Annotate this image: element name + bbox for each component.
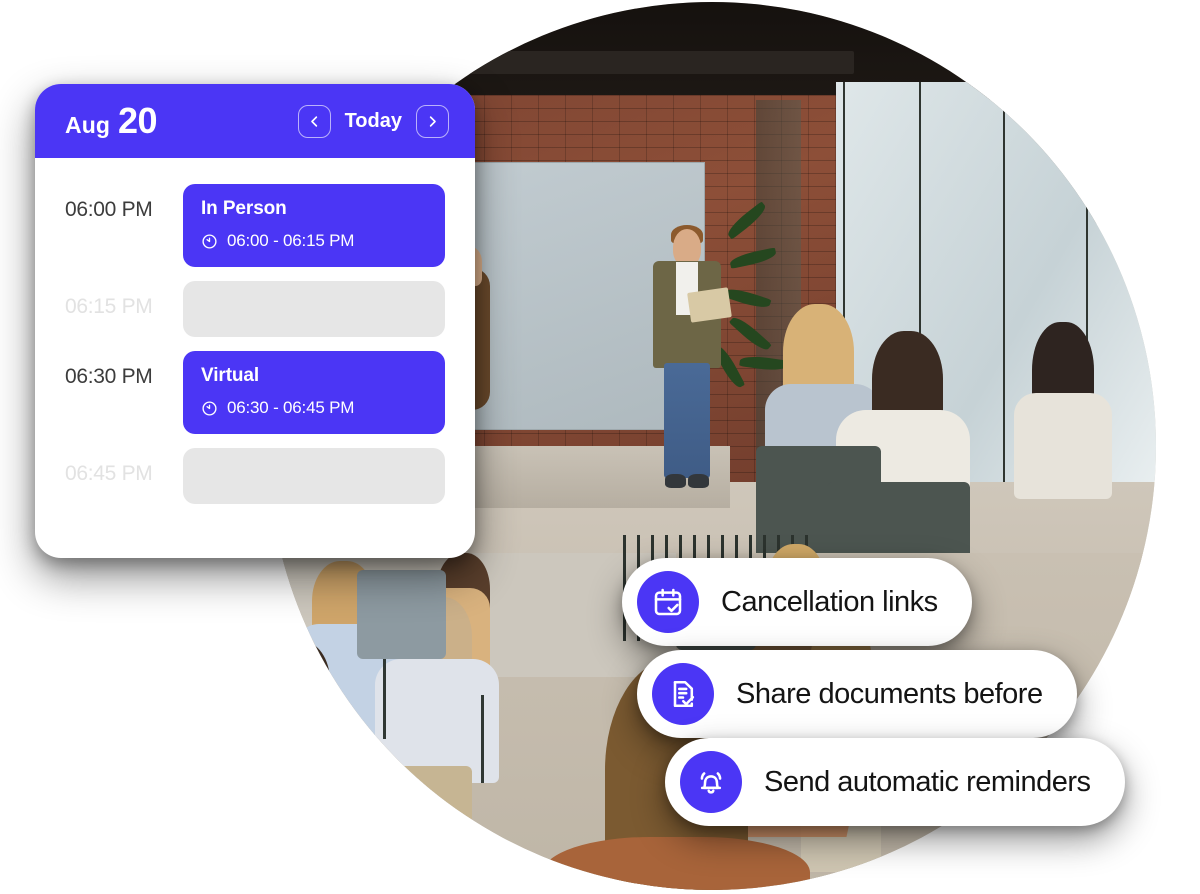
feature-label: Share documents before bbox=[736, 678, 1043, 711]
hero-composition: Aug 20 Today bbox=[0, 0, 1200, 894]
event-title: Virtual bbox=[201, 365, 429, 387]
time-slot-row: 06:30 PM Virtual 06:30 - 06:45 PM bbox=[65, 351, 445, 434]
presenter-jeans bbox=[664, 363, 710, 478]
event-title: In Person bbox=[201, 198, 429, 220]
clock-icon bbox=[201, 400, 218, 417]
time-slot-row: 06:15 PM bbox=[65, 281, 445, 337]
chevron-left-icon bbox=[307, 114, 322, 129]
presenter-shoe bbox=[688, 474, 709, 487]
calendar-day: 20 bbox=[118, 100, 157, 142]
event-time-range: 06:30 - 06:45 PM bbox=[227, 398, 354, 418]
slot-time-label: 06:30 PM bbox=[65, 351, 183, 389]
presenter-clipboard bbox=[687, 287, 732, 323]
feature-pill-cancellation-links[interactable]: Cancellation links bbox=[622, 558, 972, 646]
calendar-date: Aug 20 bbox=[65, 100, 157, 142]
event-time-meta: 06:30 - 06:45 PM bbox=[201, 398, 429, 418]
slot-time-label: 06:45 PM bbox=[65, 448, 183, 486]
empty-slot[interactable] bbox=[183, 448, 445, 504]
feature-pill-share-documents[interactable]: Share documents before bbox=[637, 650, 1077, 738]
today-label[interactable]: Today bbox=[345, 110, 402, 133]
attendee-torso bbox=[1014, 393, 1112, 500]
slot-time-label: 06:15 PM bbox=[65, 281, 183, 319]
time-slot-row: 06:00 PM In Person 06:00 - 06:15 PM bbox=[65, 184, 445, 267]
next-day-button[interactable] bbox=[416, 105, 449, 138]
calendar-header: Aug 20 Today bbox=[35, 84, 475, 158]
event-card-virtual[interactable]: Virtual 06:30 - 06:45 PM bbox=[183, 351, 445, 434]
presenter-shoe bbox=[665, 474, 686, 487]
feature-label: Cancellation links bbox=[721, 586, 938, 619]
clock-icon bbox=[201, 233, 218, 250]
calendar-navigation: Today bbox=[298, 105, 449, 138]
ceiling-beam bbox=[463, 51, 854, 74]
foreground-person-shoulders bbox=[543, 837, 809, 890]
event-card-in-person[interactable]: In Person 06:00 - 06:15 PM bbox=[183, 184, 445, 267]
feature-label: Send automatic reminders bbox=[764, 766, 1091, 799]
attendee-legs bbox=[383, 766, 472, 855]
chevron-right-icon bbox=[425, 114, 440, 129]
calendar-widget: Aug 20 Today bbox=[35, 84, 475, 558]
event-time-range: 06:00 - 06:15 PM bbox=[227, 231, 354, 251]
slot-time-label: 06:00 PM bbox=[65, 184, 183, 222]
chair bbox=[357, 570, 446, 659]
calendar-check-icon bbox=[637, 571, 699, 633]
empty-slot[interactable] bbox=[183, 281, 445, 337]
calendar-month: Aug bbox=[65, 112, 110, 139]
bell-icon bbox=[680, 751, 742, 813]
event-time-meta: 06:00 - 06:15 PM bbox=[201, 231, 429, 251]
document-check-icon bbox=[652, 663, 714, 725]
attendee-torso bbox=[268, 704, 357, 828]
previous-day-button[interactable] bbox=[298, 105, 331, 138]
calendar-slot-list: 06:00 PM In Person 06:00 - 06:15 PM bbox=[35, 158, 475, 540]
feature-pill-send-reminders[interactable]: Send automatic reminders bbox=[665, 738, 1125, 826]
time-slot-row: 06:45 PM bbox=[65, 448, 445, 504]
